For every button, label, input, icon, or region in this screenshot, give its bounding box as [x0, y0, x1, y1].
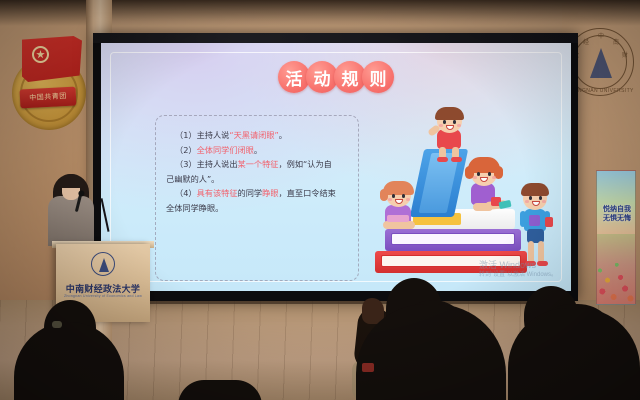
- rule-line: 己幽默的人”。: [166, 172, 348, 187]
- poster-line-1: 悦纳自我: [600, 205, 634, 214]
- slide-title: 活 动 规 则: [101, 61, 571, 93]
- poster-line-2: 无惧无悔: [600, 214, 634, 223]
- rule-line: （1）主持人说“天黑请闭眼”。: [166, 128, 348, 143]
- youth-league-emblem: 中国共青团: [6, 30, 92, 134]
- rule-line: 全体同学睁眼。: [166, 201, 348, 216]
- rule-segment: ，直至口令结束: [279, 188, 336, 198]
- presenter-hair-top: [59, 174, 83, 188]
- seal-char-2: 财: [622, 50, 628, 59]
- lecture-hall-photo: 中国共青团 中 南 财 经 政 法 ZHONGNAN UNIVERSITY 悦纳…: [0, 0, 640, 400]
- child-left: [377, 181, 427, 235]
- presenter: [40, 162, 102, 246]
- watermark-line-2: 转到“设置”以激活 Windows。: [479, 271, 557, 279]
- red-flag-icon: [22, 36, 82, 82]
- poster-text: 悦纳自我 无惧无悔: [600, 205, 634, 223]
- emblem-band: 中国共青团: [20, 87, 77, 109]
- hair-clip-icon: [52, 321, 62, 328]
- child-top: [425, 107, 475, 163]
- emblem-band-text: 中国共青团: [20, 87, 77, 109]
- rules-list: （1）主持人说“天黑请闭眼”。（2）全体同学们闭眼。（3）主持人说出某一个特征，…: [166, 128, 348, 215]
- star-icon: [32, 46, 49, 63]
- rule-line: （3）主持人说出某一个特征，例如“认为自: [166, 157, 348, 172]
- rule-segment: 全体同学们闭眼: [197, 145, 254, 155]
- rule-segment: 某一个特征: [238, 159, 279, 169]
- watermark-line-1: 激活 Windows: [479, 260, 557, 271]
- rule-segment: 睁眼: [262, 188, 278, 198]
- windows-activation-watermark: 激活 Windows 转到“设置”以激活 Windows。: [479, 260, 557, 279]
- rule-line: （4）具有该特征的同学睁眼，直至口令结束: [166, 186, 348, 201]
- rule-segment: ，例如“认为自: [278, 159, 331, 169]
- rule-segment: 。: [279, 130, 287, 140]
- screen-top-bezel: [93, 33, 578, 43]
- rule-segment: 全体同学睁眼。: [166, 203, 223, 213]
- rule-line: （2）全体同学们闭眼。: [166, 143, 348, 158]
- title-bubble-3: 则: [362, 61, 394, 93]
- rule-segment: 。: [254, 145, 262, 155]
- audience-back: [178, 380, 262, 400]
- poster-flowers: [597, 234, 635, 304]
- rule-segment: （3）主持人说出: [175, 159, 238, 169]
- seal-char-3: 经: [583, 37, 589, 46]
- rule-segment: （2）: [175, 145, 197, 155]
- child-middle: [461, 157, 513, 219]
- presentation-slide: 活 动 规 则 （1）主持人说“天黑请闭眼”。（2）全体同学们闭眼。（3）主持人…: [101, 43, 571, 291]
- rule-segment: “天黑请闭眼”: [229, 130, 278, 140]
- podium-university-en: Zhongnan University of Economics and Law: [56, 294, 150, 298]
- rule-segment: 己幽默的人”。: [166, 174, 219, 184]
- presenter-body: [48, 196, 94, 246]
- rule-segment: 具有该特征: [197, 188, 238, 198]
- rule-segment: 的同学: [238, 188, 263, 198]
- rules-box: （1）主持人说“天黑请闭眼”。（2）全体同学们闭眼。（3）主持人说出某一个特征，…: [155, 115, 359, 281]
- audience-center-watch: [362, 363, 374, 372]
- rule-segment: （1）主持人说: [175, 130, 229, 140]
- projection-screen: 活 动 规 则 （1）主持人说“天黑请闭眼”。（2）全体同学们闭眼。（3）主持人…: [93, 33, 578, 301]
- seal-char-1: 南: [613, 37, 619, 46]
- wall-poster: 悦纳自我 无惧无悔: [596, 170, 636, 305]
- seal-char-0: 中: [598, 31, 604, 40]
- rule-segment: （4）: [175, 188, 197, 198]
- podium-logo-icon: [91, 252, 115, 276]
